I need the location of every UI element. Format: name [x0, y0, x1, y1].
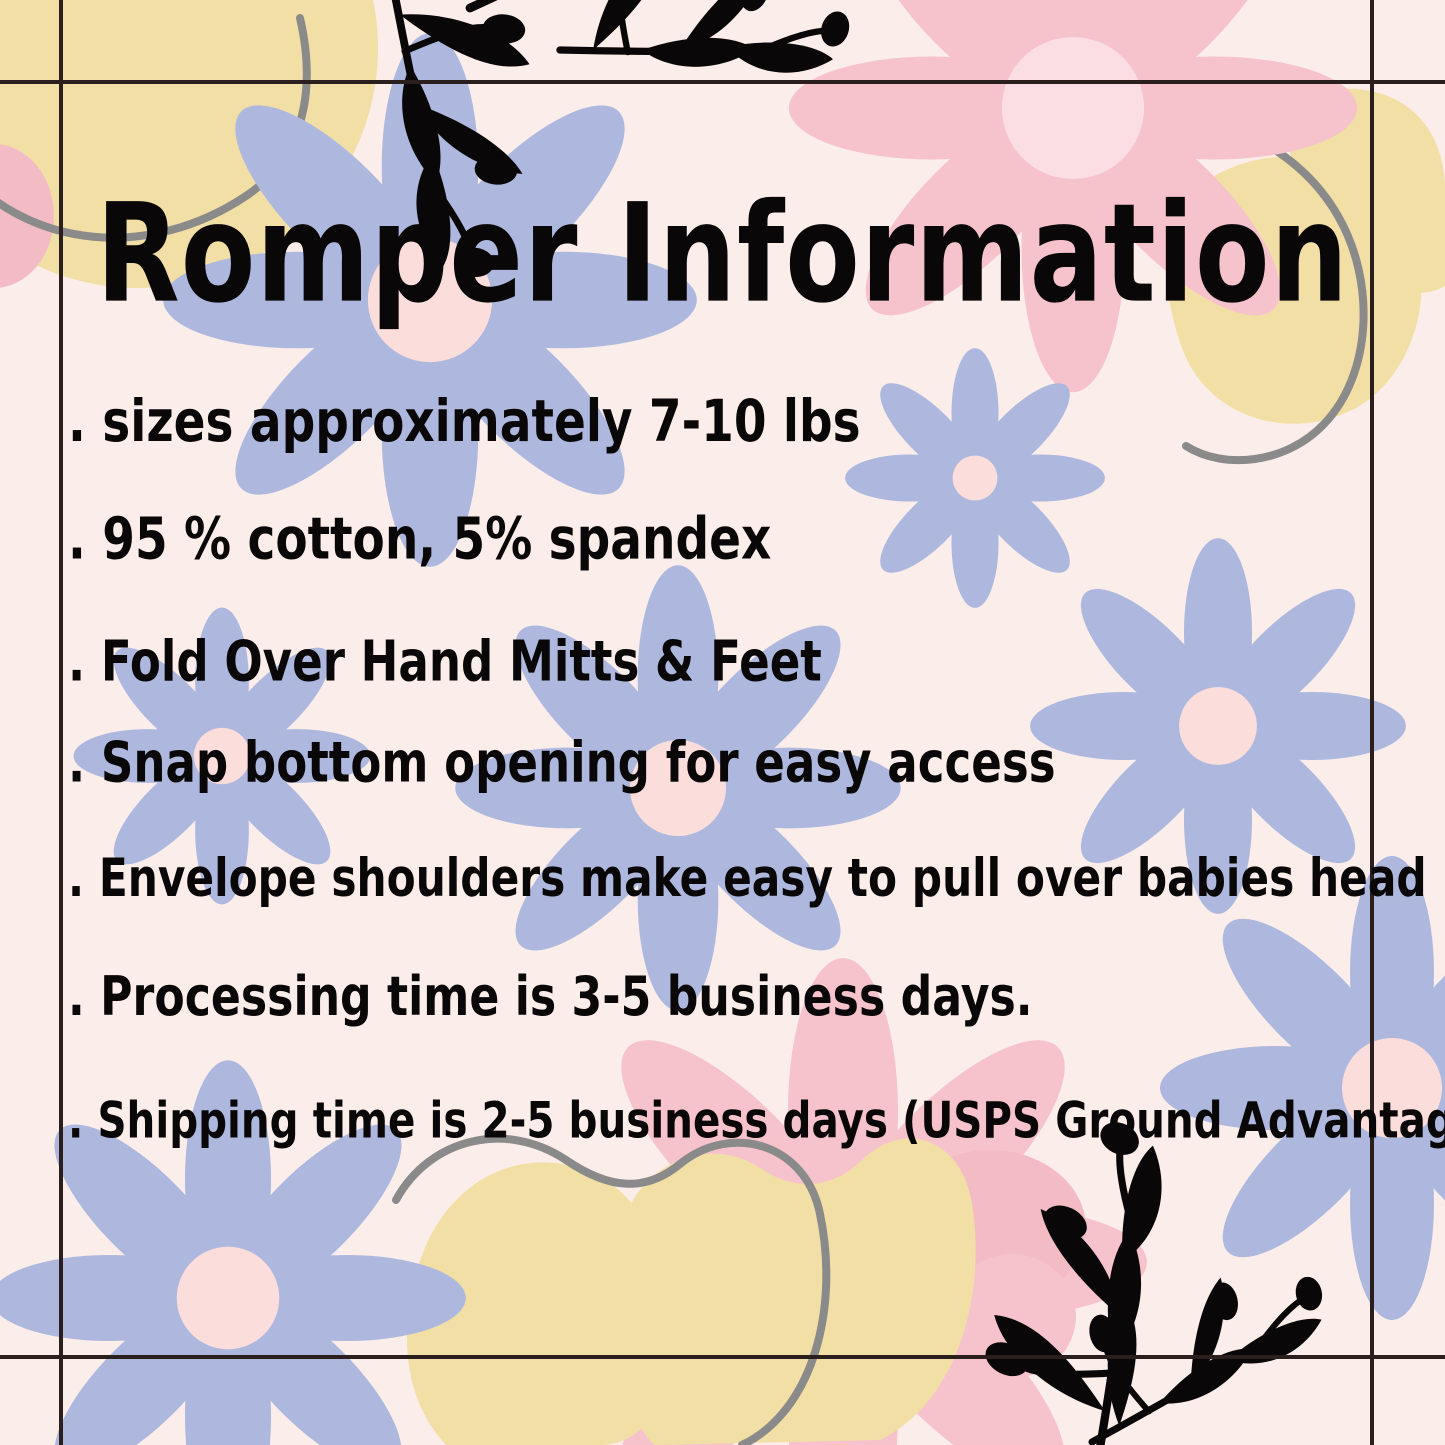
bullet-marker: . [68, 505, 86, 572]
list-item: . Shipping time is 2-5 business days (US… [68, 1093, 1337, 1174]
bullet-text: Fold Over Hand Mitts & Feet [101, 630, 822, 695]
page-title: Romper Information [22, 186, 1424, 323]
bullet-marker: . [68, 630, 85, 695]
bullet-marker: . [68, 387, 86, 454]
bullet-marker: . [68, 1092, 83, 1150]
bullet-text: 95 % cotton, 5% spandex [102, 505, 771, 572]
bullet-marker: . [68, 730, 85, 795]
bullet-marker: . [68, 965, 85, 1029]
bullet-text: Processing time is 3-5 business days. [100, 965, 1032, 1029]
bullet-marker: . [68, 847, 84, 908]
poster-canvas: Romper Information . sizes approximately… [0, 0, 1445, 1445]
bullet-text: Envelope shoulders make easy to pull ove… [99, 847, 1427, 908]
bullet-text: sizes approximately 7-10 lbs [102, 387, 860, 454]
bullet-text: Snap bottom opening for easy access [101, 730, 1056, 795]
bullet-text: Shipping time is 2-5 business days (USPS… [97, 1092, 1445, 1150]
list-item: . 95 % cotton, 5% spandex [68, 506, 1337, 649]
list-item: . Processing time is 3-5 business days. [68, 967, 1337, 1109]
info-bullet-list: . sizes approximately 7-10 lbs . 95 % co… [68, 398, 1418, 1169]
